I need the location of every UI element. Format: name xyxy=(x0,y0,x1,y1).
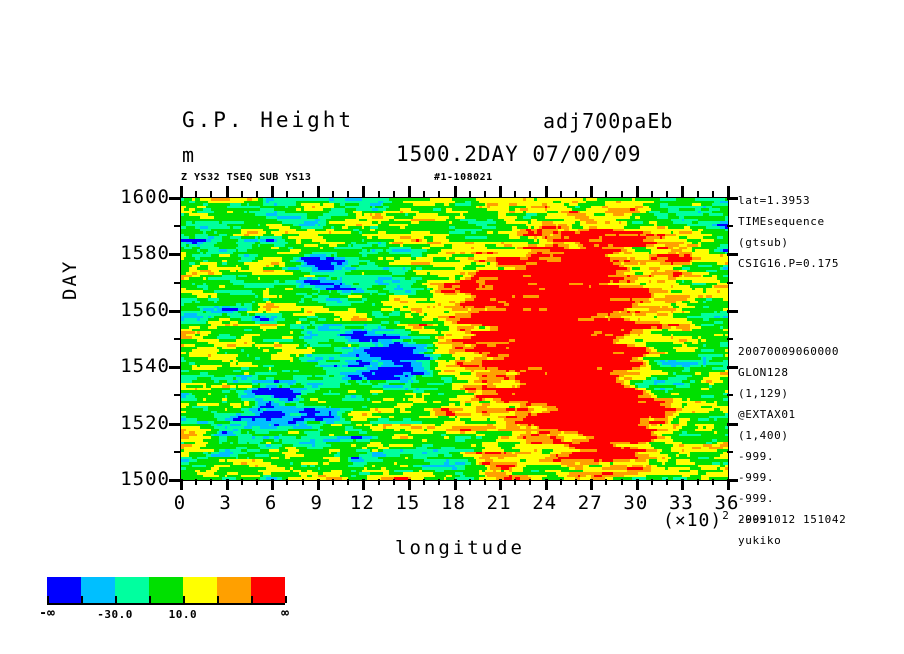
x-axis-tick-label: 18 xyxy=(434,492,474,514)
x-axis-title: longitude xyxy=(395,537,525,559)
colorbar-segment xyxy=(183,577,217,603)
y-axis-tick xyxy=(169,423,180,426)
y-axis-tick xyxy=(174,282,180,284)
x-axis-multiplier-text: (×10) xyxy=(663,510,722,531)
colorbar-tick xyxy=(47,596,49,603)
x-axis-tick xyxy=(484,191,486,197)
x-axis-tick-label: 30 xyxy=(616,492,656,514)
x-axis-tick xyxy=(226,479,229,490)
x-axis-tick xyxy=(210,479,212,485)
header-code-left: Z YS32 TSEQ SUB YS13 xyxy=(181,172,311,183)
colorbar-axis xyxy=(47,603,285,605)
annotation-line: @EXTAX01 xyxy=(738,408,796,421)
x-axis-tick xyxy=(605,479,607,485)
x-axis-tick xyxy=(545,186,548,197)
y-axis-tick-label: 1560 xyxy=(80,299,170,321)
page-title: G.P. Height xyxy=(182,108,354,132)
y-axis-tick xyxy=(174,394,180,396)
colorbar-tick xyxy=(217,596,219,603)
x-axis-tick xyxy=(666,479,668,485)
y-axis-tick xyxy=(169,479,180,482)
x-axis-tick xyxy=(286,191,288,197)
x-axis-tick xyxy=(529,479,531,485)
x-axis-tick xyxy=(514,479,516,485)
colorbar-tick xyxy=(149,596,151,603)
x-axis-tick xyxy=(454,479,457,490)
x-axis-tick xyxy=(438,191,440,197)
x-axis-tick xyxy=(362,186,365,197)
x-axis-tick xyxy=(195,479,197,485)
y-axis-tick xyxy=(727,394,733,396)
x-axis-tick xyxy=(302,191,304,197)
annotation-line: (1,400) xyxy=(738,429,789,442)
y-axis-tick xyxy=(727,197,738,200)
x-axis-tick xyxy=(681,479,684,490)
x-axis-tick xyxy=(697,479,699,485)
y-axis-tick xyxy=(169,366,180,369)
x-axis-tick xyxy=(621,191,623,197)
x-axis-tick xyxy=(712,191,714,197)
x-axis-tick xyxy=(378,479,380,485)
y-axis-tick xyxy=(727,282,733,284)
x-axis-tick xyxy=(727,479,730,490)
annotation-line: -999. xyxy=(738,450,774,463)
plot-frame xyxy=(180,197,729,481)
y-axis-tick xyxy=(169,253,180,256)
x-axis-tick xyxy=(605,191,607,197)
colorbar-segment xyxy=(251,577,285,603)
x-axis-multiplier-exponent: 2 xyxy=(722,509,730,522)
y-axis-tick-label: 1580 xyxy=(80,242,170,264)
header-code-right: #1-108021 xyxy=(434,172,493,183)
x-axis-tick xyxy=(712,479,714,485)
x-axis-multiplier: (×10)2 xyxy=(663,509,730,531)
x-axis-tick xyxy=(621,479,623,485)
x-axis-tick xyxy=(514,191,516,197)
x-axis-tick xyxy=(636,479,639,490)
x-axis-tick xyxy=(408,479,411,490)
y-axis-tick-label: 1520 xyxy=(80,412,170,434)
x-axis-tick xyxy=(697,191,699,197)
y-axis-tick xyxy=(727,338,733,340)
x-axis-tick xyxy=(347,479,349,485)
x-axis-tick xyxy=(666,191,668,197)
x-axis-tick xyxy=(317,479,320,490)
colorbar-tick xyxy=(115,596,117,603)
x-axis-tick xyxy=(499,186,502,197)
colorbar-segment xyxy=(115,577,149,603)
x-axis-tick xyxy=(438,479,440,485)
x-axis-tick xyxy=(560,479,562,485)
x-axis-tick xyxy=(575,191,577,197)
x-axis-tick xyxy=(180,186,183,197)
x-axis-tick xyxy=(636,186,639,197)
colorbar-max-label: ∞ xyxy=(270,606,300,621)
x-axis-tick xyxy=(727,186,730,197)
x-axis-tick xyxy=(378,191,380,197)
x-axis-tick-label: 12 xyxy=(342,492,382,514)
x-axis-tick xyxy=(302,479,304,485)
x-axis-tick xyxy=(408,186,411,197)
dataset-name-label: adj700paEb xyxy=(543,109,673,133)
x-axis-tick xyxy=(469,191,471,197)
x-axis-tick xyxy=(256,191,258,197)
annotation-line: CSIG16.P=0.175 xyxy=(738,257,839,270)
x-axis-tick xyxy=(317,186,320,197)
annotation-line: 20070009060000 xyxy=(738,345,839,358)
x-axis-tick xyxy=(393,191,395,197)
x-axis-tick-label: 24 xyxy=(525,492,565,514)
x-axis-tick xyxy=(241,191,243,197)
annotation-line: TIMEsequence xyxy=(738,215,825,228)
x-axis-tick xyxy=(332,191,334,197)
x-axis-tick xyxy=(560,191,562,197)
y-axis-tick-label: 1540 xyxy=(80,355,170,377)
x-axis-tick xyxy=(484,479,486,485)
y-axis-title: DAY xyxy=(59,260,81,300)
x-axis-tick xyxy=(454,186,457,197)
x-axis-tick xyxy=(423,479,425,485)
x-axis-tick xyxy=(681,186,684,197)
y-axis-tick xyxy=(727,310,738,313)
annotation-line: (gtsub) xyxy=(738,236,789,249)
colorbar-tick-label: -30.0 xyxy=(80,608,150,621)
annotation-line: -999. xyxy=(738,492,774,505)
x-axis-tick xyxy=(469,479,471,485)
x-axis-tick xyxy=(545,479,548,490)
y-axis-tick xyxy=(169,310,180,313)
x-axis-tick xyxy=(529,191,531,197)
colorbar-tick-label: 10.0 xyxy=(148,608,218,621)
x-axis-tick xyxy=(195,191,197,197)
x-axis-tick xyxy=(590,186,593,197)
x-axis-tick-label: 27 xyxy=(570,492,610,514)
y-axis-tick xyxy=(727,451,733,453)
annotation-line: (1,129) xyxy=(738,387,789,400)
x-axis-tick xyxy=(210,191,212,197)
colorbar-tick xyxy=(183,596,185,603)
x-axis-tick-label: 6 xyxy=(251,492,291,514)
x-axis-tick-label: 3 xyxy=(206,492,246,514)
annotation-line: -999. xyxy=(738,471,774,484)
y-axis-tick xyxy=(174,225,180,227)
x-axis-tick xyxy=(332,479,334,485)
y-axis-tick xyxy=(727,253,738,256)
colorbar-segment xyxy=(81,577,115,603)
annotation-line: GLON128 xyxy=(738,366,789,379)
colorbar-tick xyxy=(251,596,253,603)
x-axis-tick xyxy=(590,479,593,490)
x-axis-tick xyxy=(423,191,425,197)
colorbar-segment xyxy=(47,577,81,603)
x-axis-tick-label: 0 xyxy=(160,492,200,514)
x-axis-tick xyxy=(347,191,349,197)
colorbar-tick xyxy=(81,596,83,603)
annotation-line: yukiko xyxy=(738,534,781,547)
x-axis-tick xyxy=(180,479,183,490)
x-axis-tick-label: 15 xyxy=(388,492,428,514)
y-axis-tick xyxy=(174,451,180,453)
x-axis-tick xyxy=(256,479,258,485)
x-axis-tick xyxy=(575,479,577,485)
x-axis-tick xyxy=(651,479,653,485)
y-axis-tick xyxy=(727,225,733,227)
timestamp-subtitle: 1500.2DAY 07/00/09 xyxy=(396,142,642,166)
x-axis-tick-label: 9 xyxy=(297,492,337,514)
units-label: m xyxy=(182,143,195,167)
annotation-line: 20031012 151042 xyxy=(738,513,846,526)
x-axis-tick xyxy=(271,479,274,490)
x-axis-tick xyxy=(286,479,288,485)
colorbar-segment xyxy=(217,577,251,603)
y-axis-tick-label: 1600 xyxy=(80,186,170,208)
x-axis-tick-label: 21 xyxy=(479,492,519,514)
colorbar-min-label: -∞ xyxy=(32,606,62,621)
y-axis-tick-label: 1500 xyxy=(80,468,170,490)
x-axis-tick xyxy=(271,186,274,197)
colorbar-segment xyxy=(149,577,183,603)
x-axis-tick xyxy=(393,479,395,485)
x-axis-tick xyxy=(241,479,243,485)
annotation-line: lat=1.3953 xyxy=(738,194,810,207)
x-axis-tick xyxy=(362,479,365,490)
colorbar-tick xyxy=(285,596,287,603)
y-axis-tick xyxy=(727,366,738,369)
x-axis-tick xyxy=(499,479,502,490)
x-axis-tick xyxy=(226,186,229,197)
x-axis-tick xyxy=(651,191,653,197)
y-axis-tick xyxy=(727,423,738,426)
y-axis-tick xyxy=(174,338,180,340)
y-axis-tick xyxy=(169,197,180,200)
